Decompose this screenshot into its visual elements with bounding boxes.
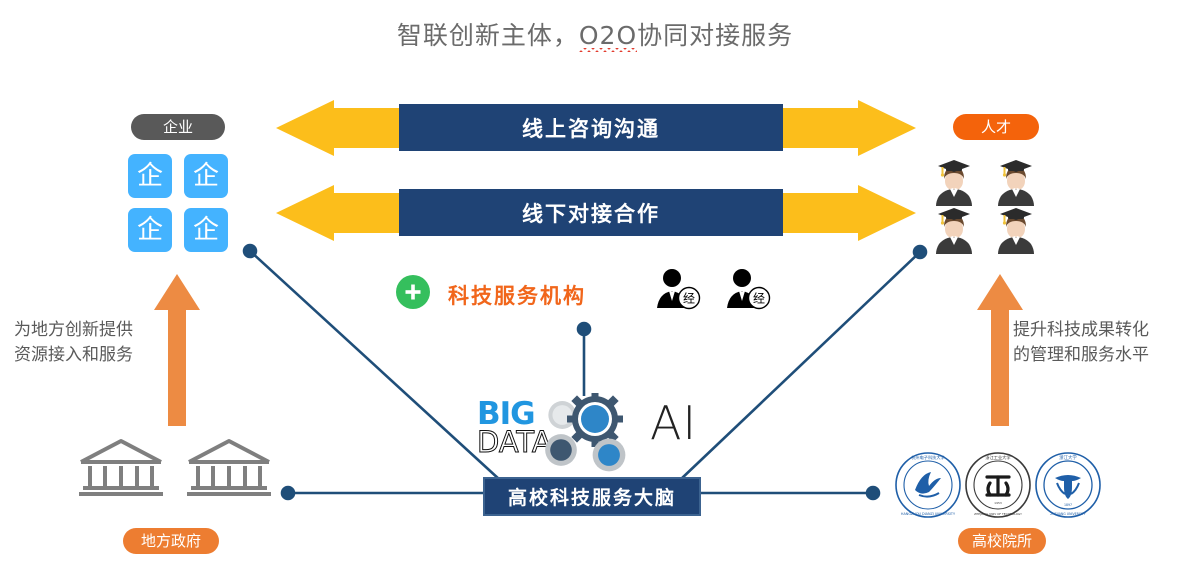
university-logo-zhejiang-university-of-technology: 浙江工业大学 1953 ZHEJIANG UNIV OF TECHNOLOGY	[963, 450, 1033, 520]
ai-logo: AI	[650, 400, 697, 446]
plus-icon	[404, 283, 422, 301]
add-service-org-icon[interactable]	[396, 275, 430, 309]
left-side-text-line1: 为地方创新提供	[14, 318, 133, 343]
svg-text:HANGZHOU DIANZI UNIVERSITY: HANGZHOU DIANZI UNIVERSITY	[901, 512, 956, 516]
dot-service-org	[578, 323, 590, 335]
band-online-label-box[interactable]: 线上咨询沟通	[399, 104, 783, 151]
line-talent-to-brain	[680, 252, 920, 480]
broker-person-icon: 经	[655, 268, 701, 310]
enterprise-glyph: 企	[193, 215, 219, 245]
enterprise-icon: 企	[184, 208, 228, 252]
enterprise-glyph: 企	[137, 161, 163, 191]
dot-government	[282, 487, 294, 499]
left-side-text-line2: 资源接入和服务	[14, 343, 133, 368]
band-online-label: 线上咨询沟通	[522, 113, 660, 143]
band-offline: 线下对接合作	[276, 185, 916, 241]
right-side-text-line2: 的管理和服务水平	[1013, 343, 1149, 368]
broker-badge-glyph: 经	[683, 292, 695, 306]
enterprise-icon: 企	[128, 208, 172, 252]
dot-enterprise	[244, 245, 256, 257]
local-government-pill-label: 地方政府	[141, 532, 201, 550]
left-up-arrow-icon	[152, 272, 202, 428]
band-offline-label-box[interactable]: 线下对接合作	[399, 189, 783, 236]
diagram-canvas: 智联创新主体，O2O协同对接服务 企业 企 企	[0, 0, 1190, 584]
dot-talent	[914, 246, 926, 258]
enterprise-icon: 企	[128, 154, 172, 198]
graduate-avatar-grid	[936, 148, 1046, 254]
universities-pill-label: 高校院所	[972, 532, 1032, 550]
svg-text:1897: 1897	[1064, 503, 1072, 507]
left-side-text: 为地方创新提供 资源接入和服务	[14, 318, 133, 368]
svg-text:ZHEJIANG UNIVERSITY: ZHEJIANG UNIVERSITY	[1050, 512, 1085, 516]
enterprise-glyph: 企	[193, 161, 219, 191]
svg-text:ZHEJIANG UNIV OF TECHNOLOGY: ZHEJIANG UNIV OF TECHNOLOGY	[974, 512, 1022, 516]
svg-text:浙江大学: 浙江大学	[1059, 454, 1077, 461]
dot-universities	[867, 487, 879, 499]
right-side-text-line1: 提升科技成果转化	[1013, 318, 1149, 343]
enterprise-pill[interactable]: 企业	[131, 114, 225, 140]
svg-text:1953: 1953	[994, 501, 1002, 505]
gears-icon	[533, 393, 638, 478]
svg-text:杭州电子科技大学: 杭州电子科技大学	[911, 454, 945, 461]
right-side-text: 提升科技成果转化 的管理和服务水平	[1013, 318, 1149, 368]
band-offline-label: 线下对接合作	[522, 198, 660, 228]
universities-pill[interactable]: 高校院所	[958, 528, 1046, 554]
broker-badge-glyph: 经	[753, 292, 765, 306]
right-up-arrow-icon	[975, 272, 1025, 428]
university-logo-zhejiang-university: 浙江大学 1897 ZHEJIANG UNIVERSITY	[1033, 450, 1103, 520]
band-online: 线上咨询沟通	[276, 100, 916, 156]
enterprise-tile-grid: 企 企 企 企	[128, 154, 228, 252]
brain-box-label: 高校科技服务大脑	[508, 483, 676, 510]
talent-pill-label: 人才	[981, 118, 1011, 136]
service-organization-label: 科技服务机构	[448, 280, 586, 310]
government-building-icon	[75, 436, 167, 498]
government-building-icon	[183, 436, 275, 498]
brain-box[interactable]: 高校科技服务大脑	[483, 477, 701, 516]
enterprise-icon: 企	[184, 154, 228, 198]
university-logo-hangzhou-dianzi-university: 杭州电子科技大学 HANGZHOU DIANZI UNIVERSITY	[893, 450, 963, 520]
talent-pill[interactable]: 人才	[953, 114, 1039, 140]
enterprise-glyph: 企	[137, 215, 163, 245]
broker-person-icon: 经	[725, 268, 771, 310]
svg-text:浙江工业大学: 浙江工业大学	[985, 454, 1010, 461]
local-government-pill[interactable]: 地方政府	[123, 528, 219, 554]
enterprise-pill-label: 企业	[163, 118, 193, 136]
